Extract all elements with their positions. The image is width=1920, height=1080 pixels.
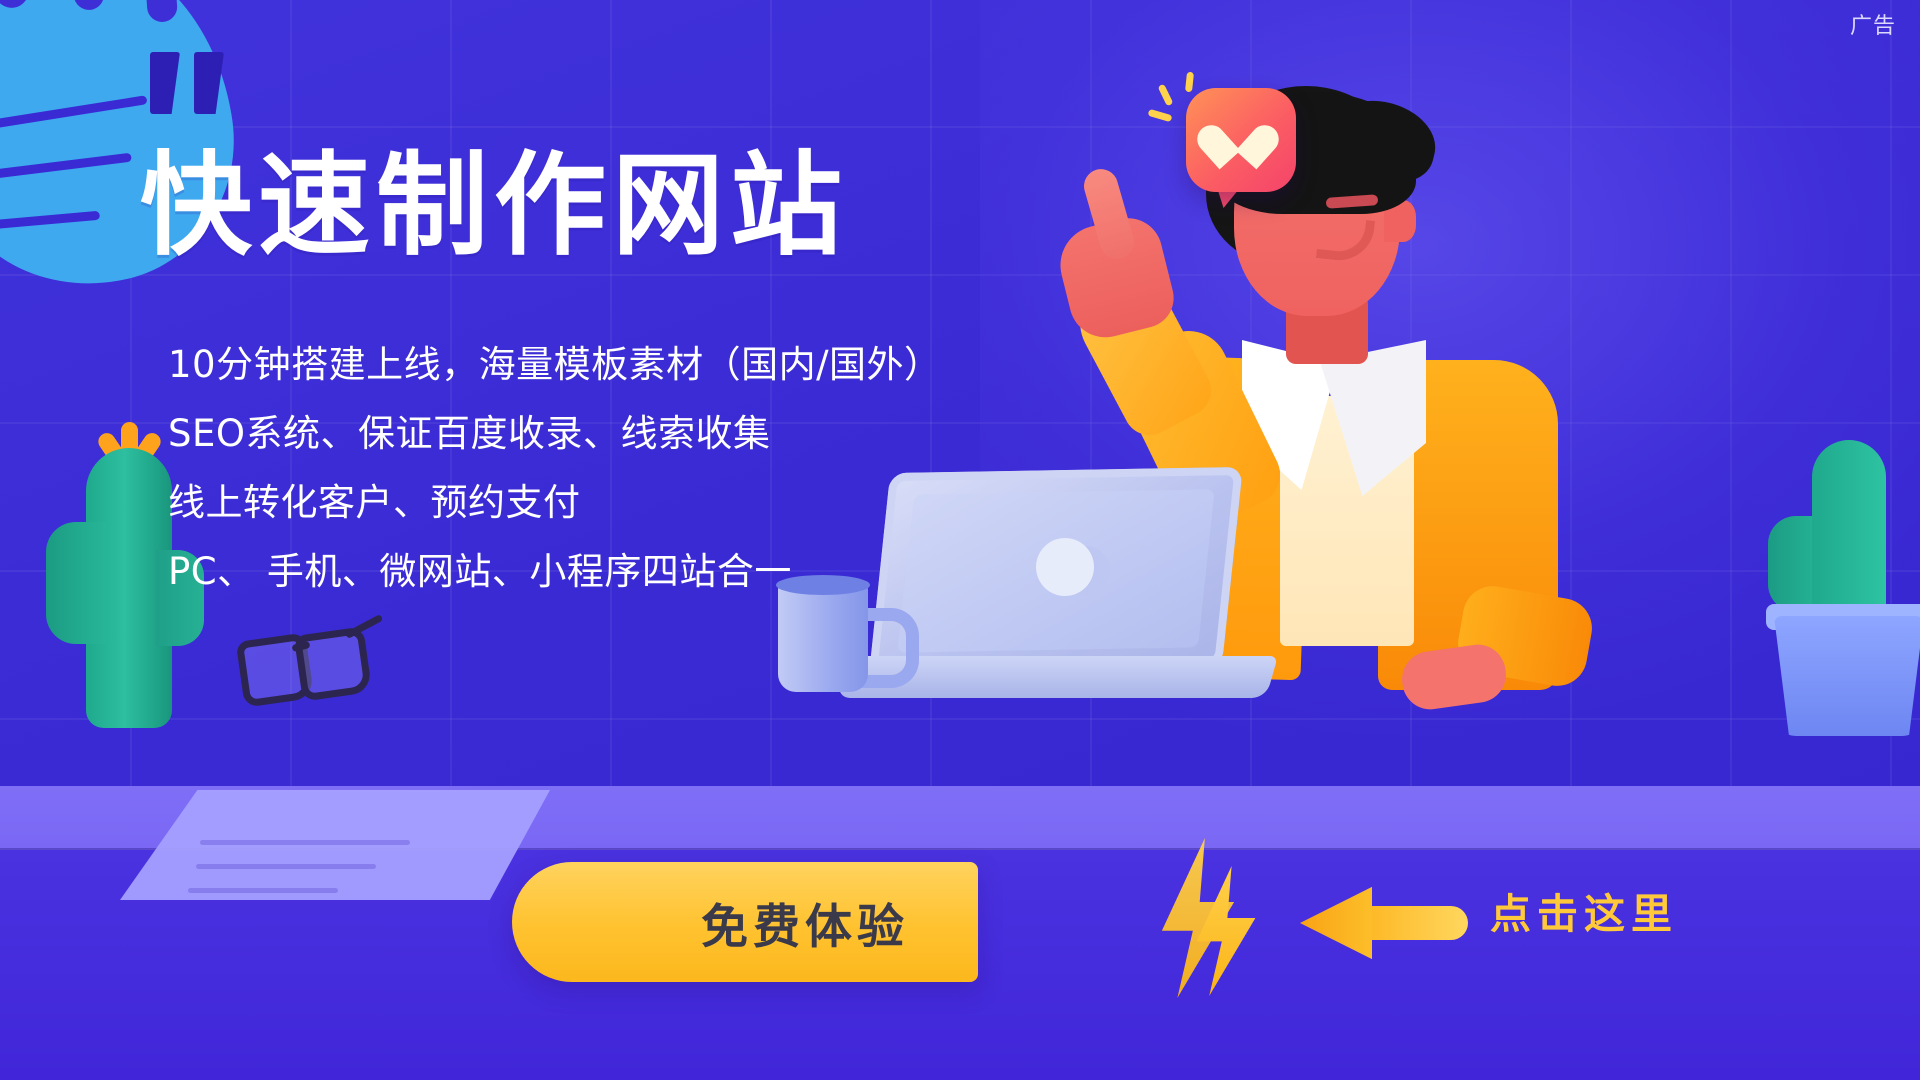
free-trial-button-label: 免费体验 <box>581 888 909 957</box>
feature-item-1: 10分钟搭建上线，海量模板素材（国内/国外） <box>168 346 988 383</box>
click-here-hint: 点击这里 <box>1490 880 1678 940</box>
arrow-head <box>1300 880 1372 966</box>
cactus-stem <box>1812 440 1886 630</box>
lightning-bolt-icon <box>1155 838 1265 998</box>
feature-item-3: 线上转化客户、预约支付 <box>168 484 988 521</box>
left-arrow-icon <box>1300 880 1468 966</box>
page-title: 快速制作网站 <box>140 148 848 266</box>
feature-list: 10分钟搭建上线，海量模板素材（国内/国外） SEO系统、保证百度收录、线索收集… <box>168 346 988 622</box>
potted-cactus-icon <box>1760 430 1920 760</box>
ad-label: 广告 <box>1850 8 1896 40</box>
paper-line <box>200 840 410 845</box>
ad-banner[interactable]: 广告 快速制作网站 10分钟搭建上线，海量模板素材（国内/国外） SEO系统、保… <box>0 0 1920 1080</box>
free-trial-button[interactable]: 免费体验 <box>512 862 978 982</box>
feature-item-2: SEO系统、保证百度收录、线索收集 <box>168 415 988 452</box>
cactus-arm-left <box>46 522 106 644</box>
quote-mark-icon <box>150 52 236 122</box>
heart-icon <box>1216 116 1268 164</box>
feature-item-4: PC、 手机、微网站、小程序四站合一 <box>168 553 988 590</box>
flower-pot <box>1774 616 1920 736</box>
glasses-lens-right <box>294 626 373 701</box>
paper-line <box>196 864 376 869</box>
eyeglasses-icon <box>240 625 370 695</box>
paper-line <box>188 888 338 893</box>
